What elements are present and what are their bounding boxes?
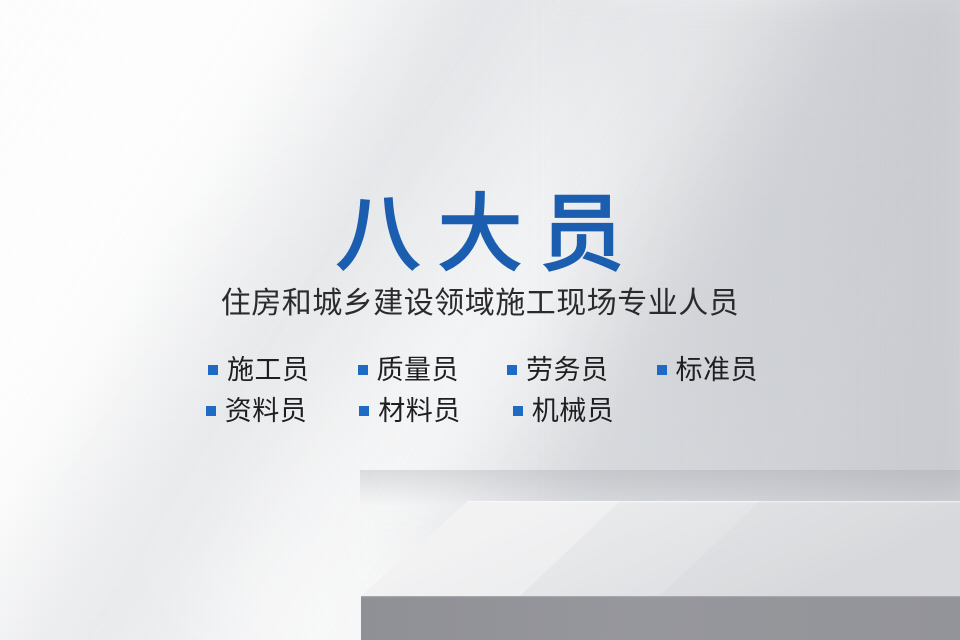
role-label: 资料员 [225, 395, 308, 427]
role-label: 施工员 [227, 354, 310, 386]
square-bullet-icon [208, 365, 218, 375]
role-item-jixieyuan[interactable]: 机械员 [513, 395, 615, 427]
square-bullet-icon [513, 406, 523, 416]
square-bullet-icon [657, 365, 667, 375]
square-bullet-icon [507, 365, 517, 375]
square-bullet-icon [359, 406, 369, 416]
role-item-shigongyuan[interactable]: 施工员 [208, 354, 310, 386]
role-label: 材料员 [378, 395, 461, 427]
role-label: 标准员 [676, 354, 759, 386]
square-bullet-icon [358, 365, 368, 375]
role-label: 机械员 [532, 395, 615, 427]
role-item-biaozhunyuan[interactable]: 标准员 [657, 354, 759, 386]
role-item-cailiaoyuan[interactable]: 材料员 [359, 395, 461, 427]
role-item-ziliaoyuan[interactable]: 资料员 [206, 395, 308, 427]
role-label: 质量员 [377, 354, 460, 386]
role-row: 资料员 材料员 机械员 [0, 390, 960, 431]
poster-canvas: 八大员 住房和城乡建设领域施工现场专业人员 施工员 质量员 劳务员 [0, 0, 960, 640]
role-list: 施工员 质量员 劳务员 标准员 资料员 [0, 349, 960, 431]
page-subtitle: 住房和城乡建设领域施工现场专业人员 [0, 285, 960, 323]
page-title: 八大员 [0, 186, 960, 282]
square-bullet-icon [206, 406, 216, 416]
role-row: 施工员 质量员 劳务员 标准员 [0, 349, 960, 390]
role-label: 劳务员 [526, 354, 609, 386]
role-item-laowuyuan[interactable]: 劳务员 [507, 354, 609, 386]
role-item-zhiliangyuan[interactable]: 质量员 [358, 354, 460, 386]
